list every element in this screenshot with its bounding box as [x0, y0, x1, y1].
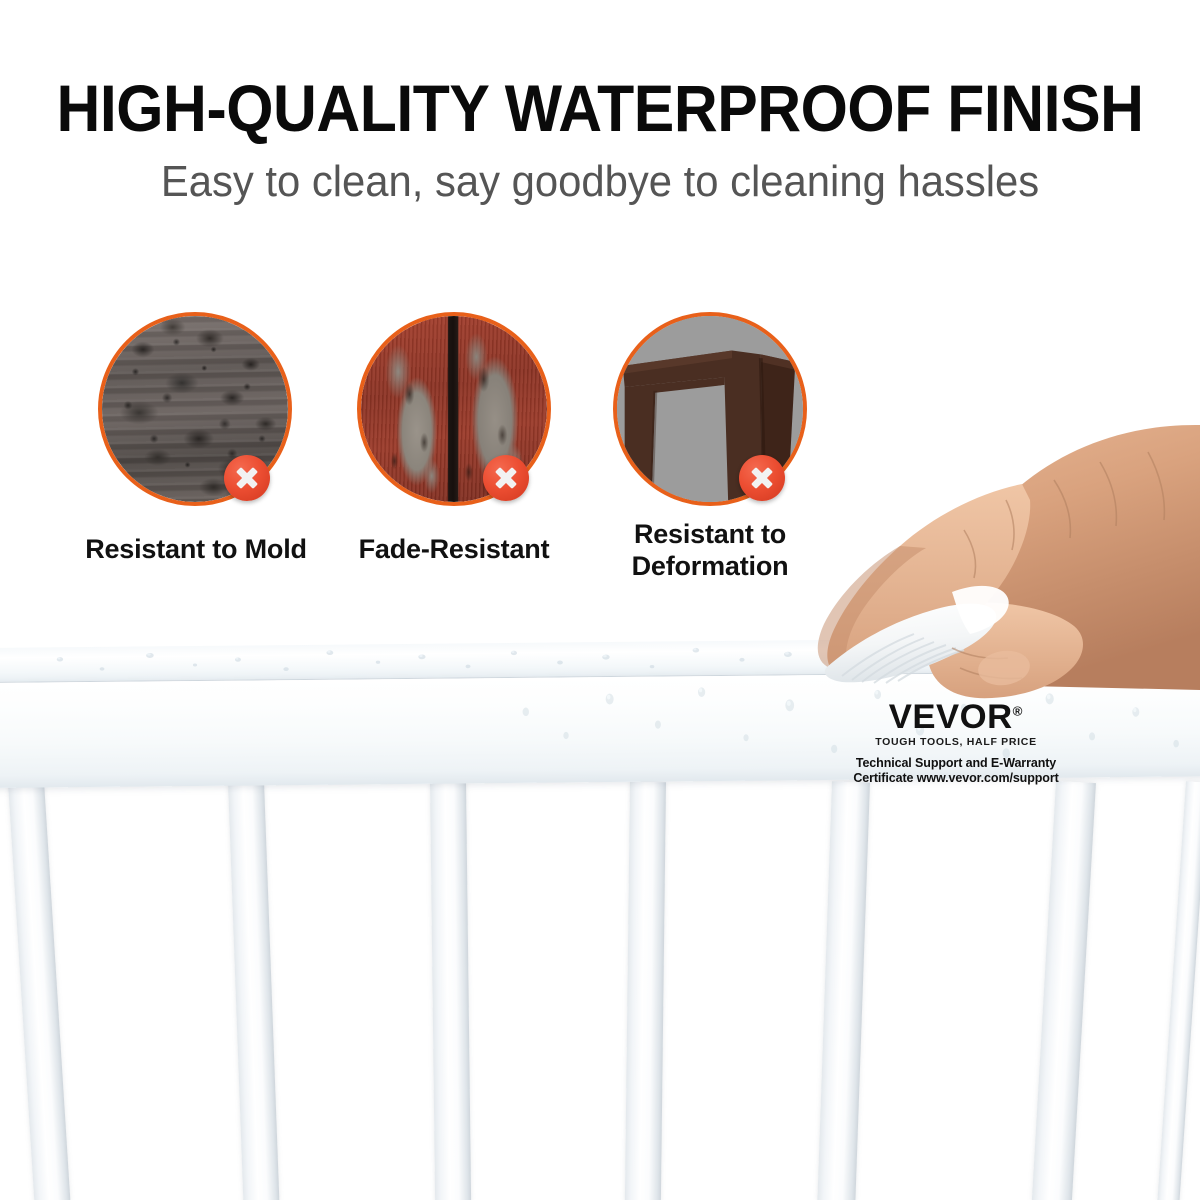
brand-name-text: VEVOR	[889, 698, 1013, 736]
cross-x-icon	[224, 455, 270, 501]
hand-illustration	[0, 0, 1200, 1200]
cross-x-icon	[739, 455, 785, 501]
hand-wiping-with-cloth-photo	[0, 0, 1200, 1200]
brand-name: VEVOR®	[889, 700, 1023, 734]
brand-tagline: TOUGH TOOLS, HALF PRICE	[836, 737, 1076, 748]
brand-support-text: Technical Support and E-Warranty Certifi…	[836, 756, 1076, 787]
registered-trademark-icon: ®	[1013, 704, 1023, 719]
cross-x-icon	[483, 455, 529, 501]
vevor-brand-block: VEVOR® TOUGH TOOLS, HALF PRICE Technical…	[836, 700, 1076, 786]
product-marketing-image: HIGH-QUALITY WATERPROOF FINISH Easy to c…	[0, 0, 1200, 1200]
